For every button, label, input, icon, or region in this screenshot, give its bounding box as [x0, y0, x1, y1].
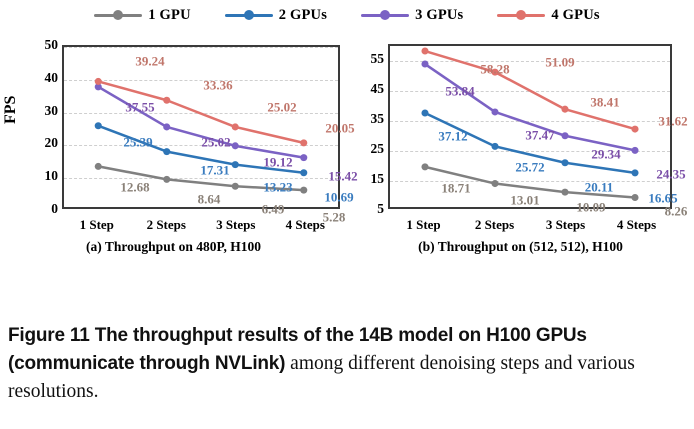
series-line-1-gpu: [425, 167, 635, 198]
x-tick-label: 1 Step: [80, 217, 114, 233]
data-point-marker: [491, 180, 498, 187]
plot-area-b: [388, 44, 672, 209]
series-line-4-gpus: [98, 81, 304, 142]
data-point-marker: [300, 154, 307, 161]
legend-marker-icon: [94, 9, 142, 21]
data-point-marker: [232, 123, 239, 130]
data-point-marker: [95, 122, 102, 129]
subplot-title-b: (b) Throughput on (512, 512), H100: [347, 239, 694, 255]
legend-item-3-gpus[interactable]: 3 GPUs: [361, 7, 463, 24]
legend-marker-icon: [361, 9, 409, 21]
data-point-marker: [561, 106, 568, 113]
legend-label: 3 GPUs: [415, 7, 463, 24]
data-point-marker: [561, 132, 568, 139]
data-point-marker: [421, 48, 428, 55]
series-line-4-gpus: [425, 51, 635, 129]
legend-label: 4 GPUs: [551, 7, 599, 24]
figure-caption: Figure 11 The throughput results of the …: [8, 322, 684, 406]
x-tick-label: 3 Steps: [546, 217, 585, 233]
legend-marker-icon: [225, 9, 273, 21]
y-tick-label: 20: [28, 136, 58, 150]
data-point-marker: [300, 169, 307, 176]
x-tick-label: 4 Steps: [286, 217, 325, 233]
legend-label: 2 GPUs: [279, 7, 327, 24]
data-point-marker: [421, 109, 428, 116]
data-point-marker: [95, 163, 102, 170]
y-tick-label: 35: [354, 112, 384, 126]
plot-area-a: [62, 45, 340, 209]
data-point-marker: [631, 147, 638, 154]
data-point-marker: [561, 189, 568, 196]
chart-panel-b: 51525354555 1 Step2 Steps3 Steps4 Steps …: [347, 28, 694, 258]
data-point-marker: [631, 126, 638, 133]
data-point-marker: [95, 78, 102, 85]
y-axis-ticks-a: 01020304050: [0, 45, 58, 209]
data-point-marker: [163, 148, 170, 155]
series-lines-a: [64, 47, 338, 207]
y-tick-label: 0: [28, 202, 58, 216]
y-tick-label: 30: [28, 104, 58, 118]
y-tick-label: 50: [28, 38, 58, 52]
x-tick-label: 2 Steps: [475, 217, 514, 233]
x-tick-label: 2 Steps: [147, 217, 186, 233]
x-tick-label: 3 Steps: [216, 217, 255, 233]
chart-panel-a: FPS 01020304050 1 Step2 Steps3 Steps4 St…: [0, 28, 347, 258]
data-point-marker: [300, 139, 307, 146]
series-line-2-gpus: [98, 126, 304, 173]
data-point-marker: [491, 108, 498, 115]
y-tick-label: 40: [28, 71, 58, 85]
y-tick-label: 5: [354, 202, 384, 216]
data-point-marker: [232, 161, 239, 168]
y-tick-label: 10: [28, 169, 58, 183]
y-tick-label: 45: [354, 82, 384, 96]
legend-item-2-gpus[interactable]: 2 GPUs: [225, 7, 327, 24]
data-point-marker: [232, 183, 239, 190]
legend-item-4-gpus[interactable]: 4 GPUs: [497, 7, 599, 24]
data-point-marker: [631, 169, 638, 176]
x-tick-label: 4 Steps: [617, 217, 656, 233]
y-axis-ticks-b: 51525354555: [348, 44, 384, 209]
data-point-marker: [163, 123, 170, 130]
chart-legend: 1 GPU2 GPUs3 GPUs4 GPUs: [0, 2, 694, 28]
legend-item-1-gpu[interactable]: 1 GPU: [94, 7, 190, 24]
legend-marker-icon: [497, 9, 545, 21]
series-lines-b: [390, 46, 670, 207]
data-point-marker: [491, 69, 498, 76]
data-point-marker: [163, 97, 170, 104]
series-line-3-gpus: [98, 87, 304, 158]
data-point-marker: [421, 61, 428, 68]
data-point-marker: [561, 159, 568, 166]
data-point-marker: [631, 194, 638, 201]
y-tick-label: 15: [354, 172, 384, 186]
data-point-marker: [491, 143, 498, 150]
data-point-marker: [163, 176, 170, 183]
series-line-3-gpus: [425, 64, 635, 150]
data-point-marker: [300, 187, 307, 194]
figure-container: 1 GPU2 GPUs3 GPUs4 GPUs FPS 01020304050 …: [0, 0, 694, 300]
x-tick-label: 1 Step: [406, 217, 440, 233]
y-tick-label: 55: [354, 52, 384, 66]
data-point-marker: [232, 142, 239, 149]
y-tick-label: 25: [354, 142, 384, 156]
data-point-marker: [421, 163, 428, 170]
legend-label: 1 GPU: [148, 7, 190, 24]
data-value-label: 5.28: [323, 211, 346, 224]
subplot-title-a: (a) Throughput on 480P, H100: [0, 239, 347, 255]
